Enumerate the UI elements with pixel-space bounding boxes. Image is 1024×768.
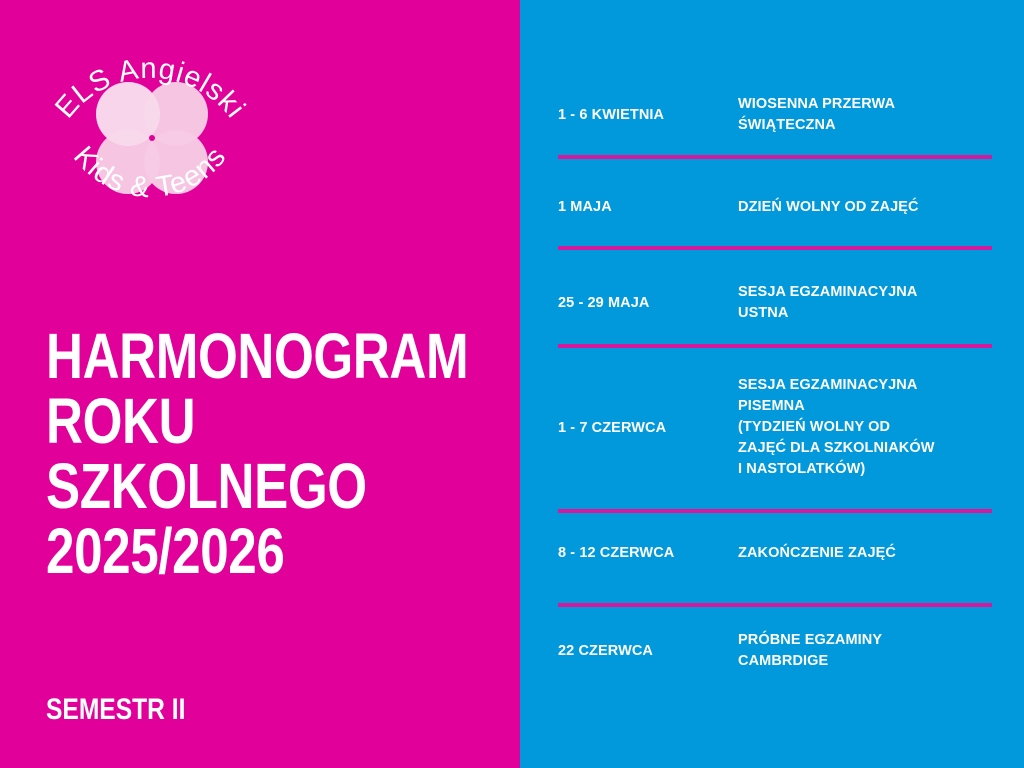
schedule-date: 1 - 7 CZERWCA — [558, 418, 738, 438]
schedule-date: 8 - 12 CZERWCA — [558, 543, 738, 563]
semester-subtitle: SEMESTR II — [46, 694, 185, 726]
title-line-4: 2025/2026 — [46, 519, 414, 584]
row-divider — [558, 344, 992, 348]
schedule-date: 1 - 6 KWIETNIA — [558, 105, 738, 125]
right-panel: 1 - 6 KWIETNIA WIOSENNA PRZERWA ŚWIĄTECZ… — [520, 0, 1024, 768]
page-title: HARMONOGRAM ROKU SZKOLNEGO 2025/2026 — [46, 324, 506, 584]
schedule-date: 25 - 29 MAJA — [558, 293, 738, 313]
title-line-3: SZKOLNEGO — [46, 454, 414, 519]
row-divider — [558, 246, 992, 250]
schedule-row: 8 - 12 CZERWCA ZAKOŃCZENIE ZAJĘĆ — [558, 538, 992, 568]
row-divider — [558, 603, 992, 607]
schedule-description: PRÓBNE EGZAMINY CAMBRDIGE — [738, 630, 992, 672]
els-angielski-logo: ELS Angielski Kids & Teens — [30, 30, 270, 230]
schedule-row: 22 CZERWCA PRÓBNE EGZAMINY CAMBRDIGE — [558, 622, 992, 680]
schedule-row: 1 MAJA DZIEŃ WOLNY OD ZAJĘĆ — [558, 192, 992, 222]
schedule-date: 22 CZERWCA — [558, 641, 738, 661]
title-line-1: HARMONOGRAM — [46, 324, 414, 389]
schedule-row: 25 - 29 MAJA SESJA EGZAMINACYJNA USTNA — [558, 274, 992, 332]
schedule-description: DZIEŃ WOLNY OD ZAJĘĆ — [738, 197, 992, 218]
schedule-description: SESJA EGZAMINACYJNA USTNA — [738, 282, 992, 324]
schedule-date: 1 MAJA — [558, 197, 738, 217]
schedule-description: WIOSENNA PRZERWA ŚWIĄTECZNA — [738, 94, 992, 136]
schedule-description: ZAKOŃCZENIE ZAJĘĆ — [738, 543, 992, 564]
schedule-list: 1 - 6 KWIETNIA WIOSENNA PRZERWA ŚWIĄTECZ… — [520, 0, 1024, 768]
schedule-description: SESJA EGZAMINACYJNA PISEMNA (TYDZIEŃ WOL… — [738, 375, 992, 480]
row-divider — [558, 155, 992, 159]
schedule-row: 1 - 6 KWIETNIA WIOSENNA PRZERWA ŚWIĄTECZ… — [558, 86, 992, 144]
poster-canvas: ELS Angielski Kids & Teens HARMONOGRAM R… — [0, 0, 1024, 768]
row-divider — [558, 509, 992, 513]
schedule-row: 1 - 7 CZERWCA SESJA EGZAMINACYJNA PISEMN… — [558, 365, 992, 490]
left-panel: ELS Angielski Kids & Teens HARMONOGRAM R… — [0, 0, 520, 768]
title-line-2: ROKU — [46, 389, 414, 454]
